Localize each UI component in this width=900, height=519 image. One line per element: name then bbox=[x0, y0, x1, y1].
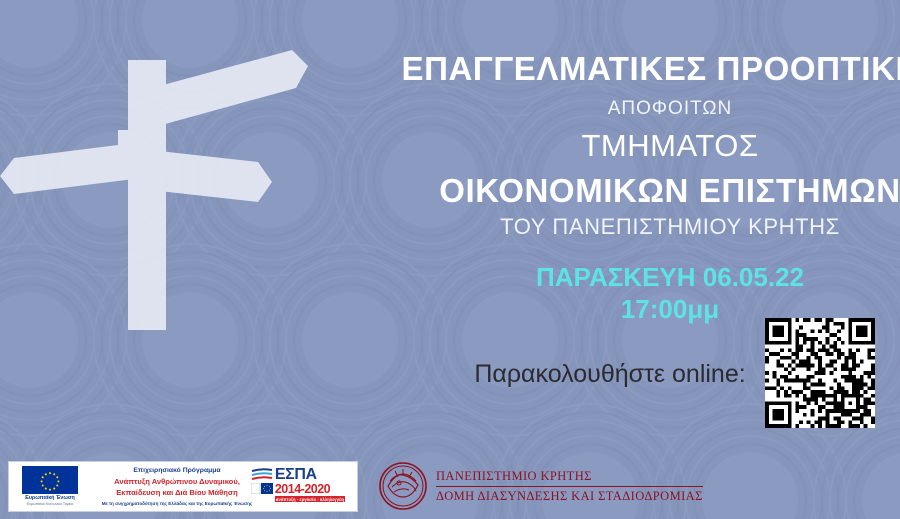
poster-title-line-4: ΟΙΚΟΝΟΜΙΚΩΝ ΕΠΙΣΤΗΜΩΝ bbox=[0, 172, 900, 210]
event-date: ΠΑΡΑΣΚΕΥΗ 06.05.22 bbox=[0, 262, 900, 293]
poster-title-line-1: ΕΠΑΓΓΕΛΜΑΤΙΚΕΣ ΠΡΟΟΠΤΙΚΕΣ bbox=[0, 50, 900, 88]
espa-logo-tagline: ανάπτυξη - εργασία - αλληλεγγύη bbox=[275, 496, 345, 502]
espa-logo-years: 2014-2020 bbox=[275, 483, 345, 496]
poster-title-line-5: ΤΟΥ ΠΑΝΕΠΙΣΤΗΜΙΟΥ ΚΡΗΤΗΣ bbox=[0, 214, 900, 240]
espa-logo-block: ΕΣΠΑ 2014-2020 ανάπτυξη - εργασία - αλλη… bbox=[267, 467, 357, 505]
eu-flag-icon bbox=[22, 466, 78, 494]
espa-operational-programme: Επιχειρησιακό Πρόγραμμα bbox=[89, 466, 265, 476]
poster-title-line-3: ΤΜΗΜΑΤΟΣ bbox=[0, 128, 900, 164]
university-name: ΠΑΝΕΠΙΣΤΗΜΙΟ ΚΡΗΤΗΣ bbox=[436, 469, 703, 487]
espa-eu-mini-flag-icon bbox=[251, 483, 273, 494]
espa-text-block: Επιχειρησιακό Πρόγραμμα Ανάπτυξη Ανθρώπι… bbox=[87, 466, 267, 507]
espa-swoosh-icon bbox=[251, 468, 273, 482]
espa-programme-line-1: Ανάπτυξη Ανθρώπινου Δυναμικού, bbox=[89, 476, 265, 487]
university-unit-name: ΔΟΜΗ ΔΙΑΣΥΝΔΕΣΗΣ ΚΑΙ ΣΤΑΔΙΟΔΡΟΜΙΑΣ bbox=[436, 487, 703, 504]
poster-title-line-2: ΑΠΟΦΟΙΤΩΝ bbox=[0, 98, 900, 120]
event-poster: ΕΠΑΓΓΕΛΜΑΤΙΚΕΣ ΠΡΟΟΠΤΙΚΕΣ ΑΠΟΦΟΙΤΩΝ ΤΜΗΜ… bbox=[0, 0, 900, 519]
university-logo-text: ΠΑΝΕΠΙΣΤΗΜΙΟ ΚΡΗΤΗΣ ΔΟΜΗ ΔΙΑΣΥΝΔΕΣΗΣ ΚΑΙ… bbox=[436, 469, 703, 504]
university-seal-icon bbox=[378, 461, 428, 511]
espa-programme-line-2: Εκπαίδευση και Διά Βίου Μάθηση bbox=[89, 487, 265, 498]
espa-cofunding-note: Με τη συγχρηματοδότηση της Ελλάδας και τ… bbox=[89, 501, 265, 507]
espa-logo-word: ΕΣΠΑ bbox=[275, 467, 345, 482]
espa-funding-banner: Ευρωπαϊκή Ένωση Ευρωπαϊκό Κοινωνικό Ταμε… bbox=[8, 461, 358, 512]
eu-flag-block: Ευρωπαϊκή Ένωση Ευρωπαϊκό Κοινωνικό Ταμε… bbox=[9, 466, 87, 506]
eu-flag-subcaption: Ευρωπαϊκό Κοινωνικό Ταμείο bbox=[13, 502, 87, 506]
eu-flag-caption: Ευρωπαϊκή Ένωση bbox=[13, 495, 87, 502]
qr-code[interactable] bbox=[765, 318, 875, 428]
university-of-crete-logo: ΠΑΝΕΠΙΣΤΗΜΙΟ ΚΡΗΤΗΣ ΔΟΜΗ ΔΙΑΣΥΝΔΕΣΗΣ ΚΑΙ… bbox=[378, 459, 703, 513]
